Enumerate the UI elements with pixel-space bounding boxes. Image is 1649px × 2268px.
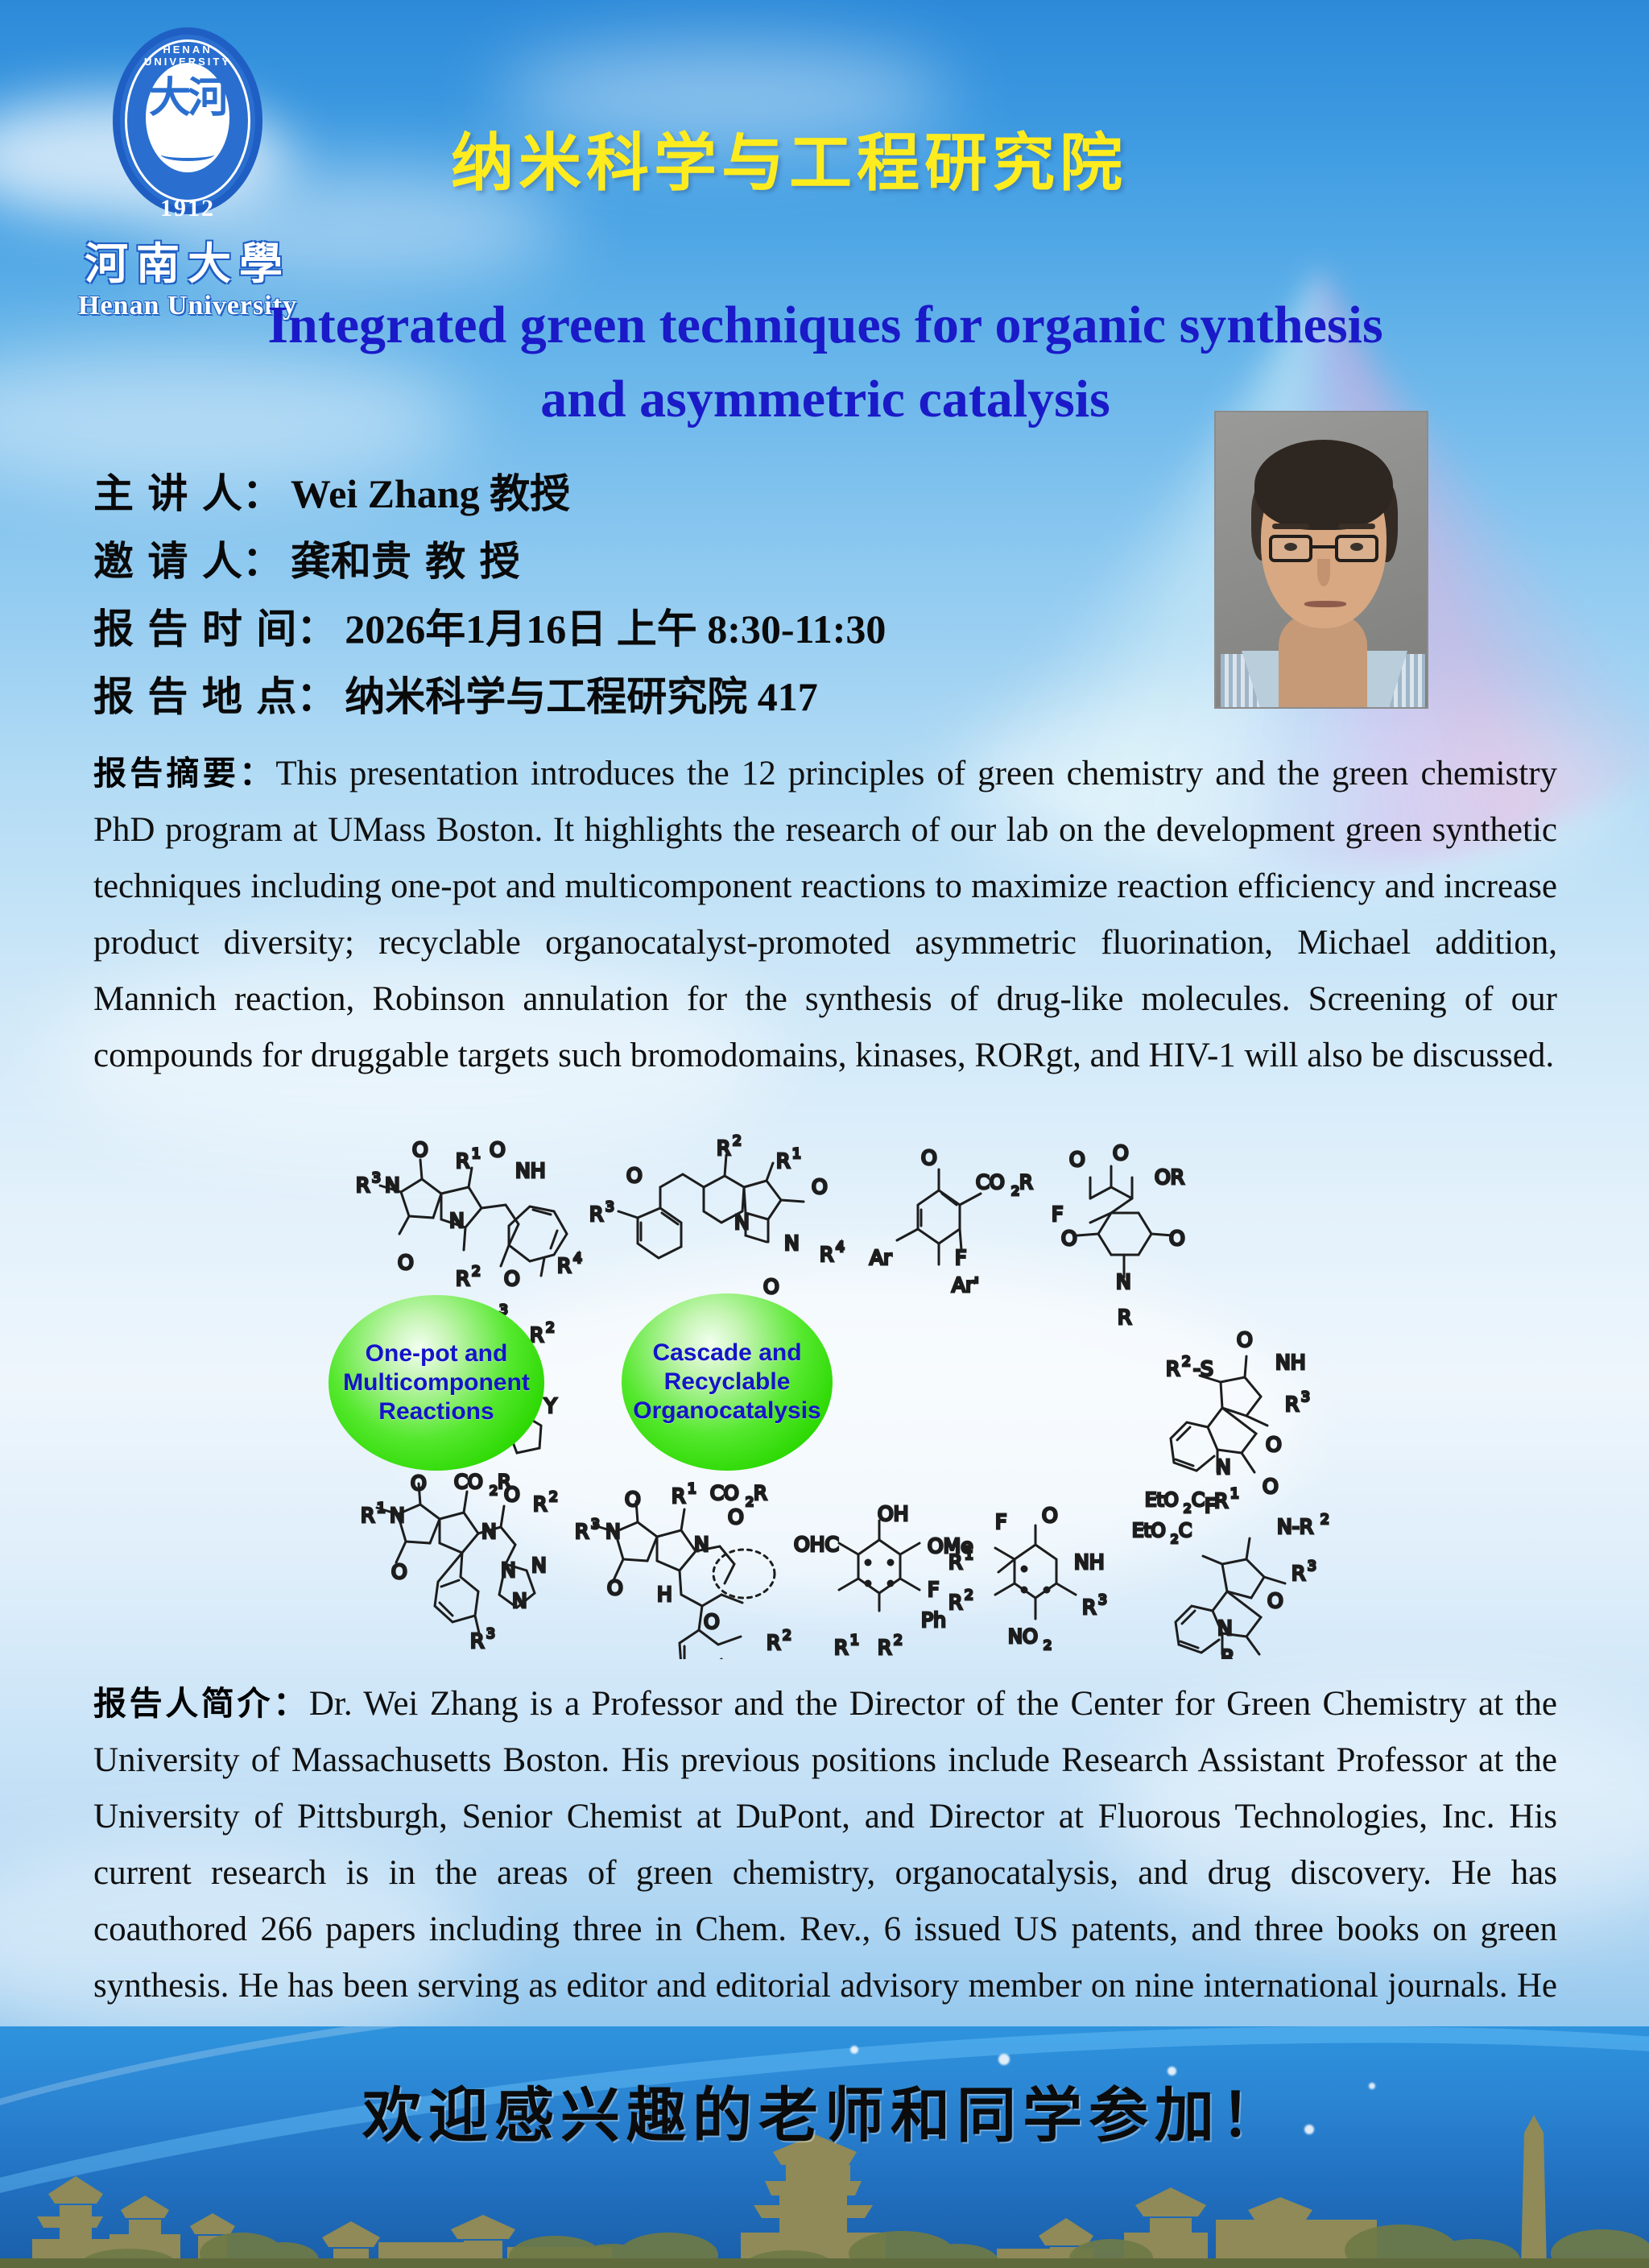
svg-text:1: 1 [965, 1547, 973, 1563]
time-value: 2026年1月16日 上午 8:30-11:30 [345, 598, 886, 660]
svg-text:R: R [470, 1629, 484, 1653]
svg-text:R: R [356, 1173, 370, 1197]
svg-text:O: O [1069, 1148, 1085, 1171]
svg-text:N: N [531, 1554, 547, 1577]
time-label: 报 告 时 间： [93, 598, 337, 660]
svg-text:1: 1 [1230, 1486, 1239, 1502]
speaker-value: Wei Zhang 教授 [291, 463, 570, 524]
svg-text:Ph: Ph [921, 1608, 946, 1632]
svg-text:R: R [557, 1254, 571, 1277]
svg-text:NH: NH [1275, 1351, 1306, 1374]
svg-text:Ar: Ar [870, 1246, 892, 1269]
svg-text:CO: CO [710, 1482, 739, 1504]
svg-text:F: F [955, 1246, 966, 1269]
svg-text:N: N [449, 1209, 465, 1232]
svg-text:3: 3 [1308, 1558, 1316, 1575]
svg-text:R: R [589, 1202, 603, 1226]
svg-text:R: R [820, 1243, 833, 1266]
svg-text:2: 2 [746, 1494, 754, 1509]
svg-text:2: 2 [549, 1489, 558, 1505]
svg-text:R: R [575, 1520, 589, 1543]
svg-text:3: 3 [1301, 1389, 1310, 1405]
detail-row-location: 报 告 地 点： 纳米科学与工程研究院 417 [93, 666, 1188, 727]
svg-text:NH: NH [515, 1159, 546, 1182]
svg-text:3: 3 [486, 1626, 495, 1642]
svg-text:O: O [728, 1505, 744, 1529]
svg-text:NO: NO [1008, 1625, 1038, 1648]
svg-text:O: O [812, 1175, 828, 1198]
svg-text:O: O [1263, 1475, 1279, 1498]
svg-text:2: 2 [894, 1633, 903, 1649]
location-label: 报 告 地 点： [93, 666, 337, 727]
title-line-1: Integrated green techniques for organic … [105, 288, 1546, 362]
svg-text:2: 2 [1184, 1501, 1192, 1516]
svg-text:C: C [1179, 1521, 1192, 1542]
svg-text:3: 3 [605, 1199, 614, 1215]
svg-text:CO: CO [454, 1471, 483, 1493]
svg-text:R: R [767, 1631, 780, 1654]
svg-text:3: 3 [1098, 1592, 1107, 1608]
abstract-paragraph: 报告摘要：This presentation introduces the 12… [93, 745, 1557, 1084]
biography-label: 报告人简介： [93, 1684, 309, 1723]
svg-text:2: 2 [1011, 1183, 1019, 1198]
svg-text:N: N [605, 1520, 621, 1543]
svg-text:N: N [390, 1504, 405, 1527]
svg-text:R: R [533, 1492, 547, 1516]
svg-text:R: R [361, 1504, 374, 1527]
svg-text:R: R [948, 1591, 962, 1614]
svg-text:F: F [1052, 1202, 1063, 1226]
svg-text:1: 1 [792, 1146, 801, 1162]
host-value: 龚和贵 教 授 [291, 531, 520, 592]
svg-text:1: 1 [472, 1146, 481, 1162]
svg-text:F: F [928, 1578, 939, 1601]
institute-title: 纳米科学与工程研究院 [451, 113, 1127, 203]
detail-row-host: 邀 请 人： 龚和贵 教 授 [93, 531, 1188, 592]
svg-text:R: R [1221, 1645, 1234, 1659]
svg-text:1: 1 [850, 1633, 859, 1649]
svg-text:N: N [784, 1231, 800, 1255]
poster-root: HENAN UNIVERSITY 大河 1912 河南大學 Henan Univ… [0, 0, 1649, 2268]
svg-text:O: O [1169, 1227, 1185, 1250]
svg-text:O: O [1061, 1227, 1077, 1250]
svg-text:O: O [607, 1576, 623, 1600]
svg-text:O: O [626, 1164, 643, 1187]
svg-text:O: O [490, 1138, 506, 1161]
svg-text:O: O [704, 1610, 720, 1633]
svg-text:N: N [1216, 1455, 1231, 1479]
svg-text:H: H [657, 1583, 672, 1606]
reaction-scheme-graphic: R 3 N O O R 1 O NH N R 2 O R 4 [322, 1128, 1337, 1659]
henan-university-crest-icon: HENAN UNIVERSITY 大河 1912 [105, 27, 271, 235]
svg-text:-S: -S [1193, 1357, 1213, 1380]
svg-text:R: R [1118, 1306, 1131, 1329]
abstract-text: This presentation introduces the 12 prin… [93, 755, 1557, 1074]
svg-text:2: 2 [965, 1587, 973, 1604]
svg-text:R: R [717, 1136, 730, 1160]
crest-glyph-text: 大河 [146, 76, 229, 121]
biography-paragraph: 报告人简介：Dr. Wei Zhang is a Professor and t… [93, 1675, 1557, 2071]
svg-text:N: N [1116, 1270, 1131, 1293]
svg-text:N-R: N-R [1277, 1515, 1313, 1538]
svg-text:OR: OR [1155, 1165, 1184, 1189]
svg-text:O: O [1113, 1141, 1129, 1165]
svg-text:N: N [385, 1173, 400, 1197]
svg-text:2: 2 [472, 1264, 481, 1280]
svg-text:4: 4 [836, 1240, 845, 1256]
svg-text:2: 2 [1182, 1354, 1191, 1370]
svg-text:N: N [1217, 1616, 1233, 1640]
svg-text:4: 4 [573, 1251, 582, 1267]
svg-text:O: O [1266, 1433, 1282, 1456]
svg-text:O: O [1042, 1504, 1058, 1527]
svg-text:O: O [625, 1488, 641, 1511]
svg-text:Ar': Ar' [952, 1273, 979, 1297]
svg-text:2: 2 [1044, 1637, 1052, 1653]
svg-text:O: O [391, 1560, 407, 1583]
svg-text:Y: Y [543, 1394, 557, 1417]
svg-text:R: R [1292, 1562, 1305, 1585]
svg-text:O: O [921, 1146, 937, 1169]
svg-text:R: R [1285, 1393, 1299, 1416]
svg-text:R: R [1166, 1357, 1180, 1380]
svg-text:3: 3 [591, 1517, 600, 1533]
crest-year-text: 1912 [160, 195, 215, 222]
svg-text:N: N [501, 1558, 516, 1582]
svg-text:OH: OH [878, 1502, 908, 1525]
svg-text:R: R [776, 1149, 790, 1173]
svg-text:O: O [504, 1267, 520, 1290]
footer-slogan: 欢迎感兴趣的老师和同学参加！ [0, 2067, 1649, 2154]
svg-text:O: O [1237, 1328, 1253, 1351]
svg-text:3: 3 [372, 1170, 381, 1186]
host-label: 邀 请 人： [93, 531, 283, 592]
svg-text:2: 2 [1171, 1532, 1179, 1546]
svg-text:O: O [412, 1138, 428, 1161]
svg-text:R: R [456, 1267, 469, 1290]
svg-text:R: R [1214, 1489, 1228, 1513]
svg-text:CO: CO [976, 1171, 1005, 1194]
svg-text:2: 2 [546, 1320, 555, 1336]
svg-text:R: R [834, 1636, 848, 1659]
svg-text:R: R [1019, 1171, 1033, 1194]
svg-text:R: R [672, 1484, 685, 1508]
svg-text:F: F [995, 1510, 1006, 1533]
location-value: 纳米科学与工程研究院 417 [345, 666, 818, 727]
biography-text: Dr. Wei Zhang is a Professor and the Dir… [93, 1685, 1557, 2061]
svg-text:R: R [948, 1550, 962, 1574]
speaker-photo [1214, 411, 1428, 709]
university-logo: HENAN UNIVERSITY 大河 1912 河南大學 Henan Univ… [71, 27, 304, 322]
svg-text:EtO: EtO [1132, 1521, 1166, 1542]
svg-text:EtO: EtO [1145, 1490, 1179, 1511]
svg-text:O: O [398, 1251, 414, 1274]
speaker-label: 主 讲 人： [93, 463, 283, 524]
svg-text:NH: NH [1074, 1550, 1105, 1574]
svg-text:N: N [694, 1533, 709, 1556]
svg-text:R: R [456, 1149, 469, 1173]
svg-text:O: O [504, 1483, 520, 1506]
scheme-bubble-cascade: Cascade and Recyclable Organocatalysis [622, 1293, 833, 1471]
detail-row-time: 报 告 时 间： 2026年1月16日 上午 8:30-11:30 [93, 598, 1188, 660]
svg-text:O: O [411, 1471, 427, 1495]
abstract-label: 报告摘要： [93, 754, 275, 793]
svg-text:2: 2 [733, 1133, 742, 1149]
svg-text:C: C [1192, 1490, 1205, 1511]
svg-text:1: 1 [377, 1500, 386, 1517]
svg-text:R: R [1082, 1595, 1096, 1619]
svg-text:OHC: OHC [794, 1533, 839, 1556]
svg-text:R: R [878, 1636, 891, 1659]
svg-text:2: 2 [1320, 1512, 1329, 1528]
svg-text:2: 2 [490, 1483, 498, 1498]
svg-text:R: R [754, 1482, 767, 1504]
university-name-cn: 河南大學 [71, 238, 304, 290]
svg-text:O: O [763, 1275, 779, 1298]
svg-text:N: N [512, 1589, 527, 1612]
svg-text:N: N [481, 1520, 497, 1543]
detail-row-speaker: 主 讲 人： Wei Zhang 教授 [93, 463, 1188, 524]
svg-text:1: 1 [688, 1481, 696, 1497]
svg-text:N: N [734, 1211, 750, 1234]
seminar-details: 主 讲 人： Wei Zhang 教授 邀 请 人： 龚和贵 教 授 报 告 时… [93, 463, 1188, 734]
scheme-bubble-one-pot: One-pot and Multicomponent Reactions [329, 1295, 544, 1471]
svg-text:2: 2 [783, 1628, 791, 1644]
svg-text:O: O [1267, 1589, 1283, 1612]
svg-text:F: F [1205, 1494, 1216, 1517]
